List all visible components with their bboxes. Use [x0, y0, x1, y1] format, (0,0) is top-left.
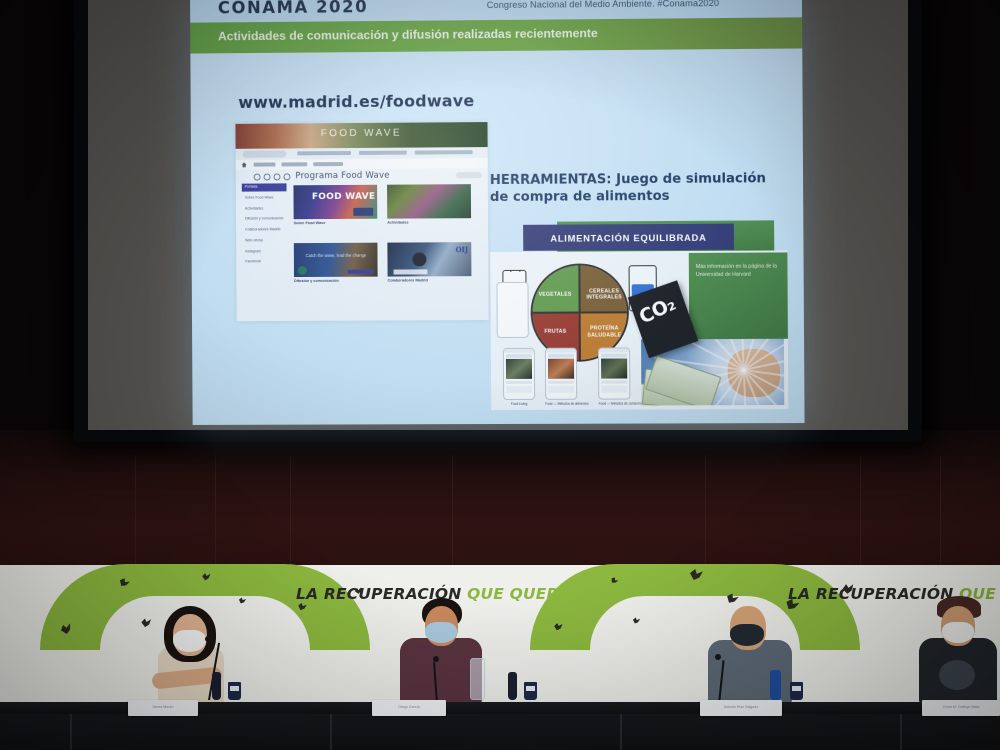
panel-table-front: [0, 714, 1000, 750]
balanced-diet-banner-wrap: ALIMENTACIÓN EQUILIBRADA: [523, 220, 774, 254]
website-content: Programa Food Wave PortadaSobre Food Wav…: [236, 168, 489, 321]
breadcrumb-2: [281, 162, 307, 166]
slide-section-title: Actividades de comunicación y difusión r…: [218, 26, 598, 43]
plate-divider-horizontal: [533, 311, 627, 314]
plate-label-fruits: FRUTAS: [535, 329, 576, 336]
panelist-1-face-mask: [173, 630, 206, 652]
table-seam: [330, 714, 332, 750]
table-seam: [900, 714, 902, 750]
card-cta-bar: [348, 270, 374, 274]
website-hero-title: FOOD WAVE: [321, 128, 402, 140]
phone-mockups-row: Food LivingFood — Métodos de alimentosFo…: [503, 347, 684, 406]
eu-badge: [353, 208, 373, 216]
table-seam: [70, 714, 72, 750]
website-sidebar-item[interactable]: Sobre Food Wave: [242, 194, 287, 202]
website-sidebar-item[interactable]: Portada: [242, 183, 287, 191]
phone-mockup: Food Living: [503, 348, 535, 406]
bottle-seat-1: [212, 672, 221, 700]
slide-section-band: Actividades de comunicación y difusión r…: [190, 17, 802, 53]
panelist-4-face-mask: [942, 622, 974, 643]
card-caption-3: Difusión y comunicación: [294, 279, 378, 283]
card-sobre-food-wave[interactable]: FOOD WAVE Sobre Food Wave: [293, 185, 377, 225]
cup-seat-3: [790, 682, 803, 700]
share-button[interactable]: [456, 172, 482, 178]
tools-heading: HERRAMIENTAS: Juego de simulación de com…: [490, 170, 787, 206]
oij-logo: OIJ: [456, 245, 469, 254]
home-icon: [242, 162, 247, 167]
wall-seam: [860, 455, 861, 570]
card-colaboradores[interactable]: OIJ Colaboradores Madrid: [387, 242, 471, 282]
card-thumb-4: OIJ: [387, 242, 471, 276]
breadcrumb-3: [313, 162, 343, 166]
conference-scene: CONAMA 2020 Congreso Nacional del Medio …: [0, 0, 1000, 750]
website-sidebar-item[interactable]: Web oficial: [242, 237, 287, 245]
card-difusion[interactable]: Catch the wave, lead the change Difusión…: [294, 243, 378, 283]
website-sidebar-menu: PortadaSobre Food WaveActividadesDifusió…: [242, 183, 287, 269]
panelist-3-face-mask: [730, 624, 764, 646]
website-sidebar-item[interactable]: Actividades: [242, 205, 287, 213]
bottle-seat-3: [770, 670, 781, 700]
panelist-2-face-mask: [425, 622, 457, 643]
conama-subtitle: Congreso Nacional del Medio Ambiente. #C…: [487, 0, 719, 10]
name-placard-1: Nerea Morán: [128, 700, 198, 716]
card-thumb-3: Catch the wave, lead the change: [294, 243, 378, 277]
projected-slide: CONAMA 2020 Congreso Nacional del Medio …: [190, 0, 805, 425]
food-wave-avatar: [298, 266, 307, 275]
panelist-1-mic-head: [205, 636, 211, 642]
contrast-icon: [264, 173, 271, 180]
cup-seat-1: [228, 682, 241, 700]
name-placard-1-text: Nerea Morán: [128, 705, 198, 709]
cup-logo: [526, 686, 535, 691]
accessibility-icon: [254, 174, 261, 181]
phone-mockup: Food — Métodos de alimentos: [545, 348, 589, 406]
nav-item-2: [359, 151, 407, 155]
card-thumb-3-text: Catch the wave, lead the change: [306, 253, 367, 258]
partner-logos-strip: [394, 269, 428, 274]
name-placard-3: Antonio Ruiz Salgado: [700, 700, 782, 716]
website-sidebar-item[interactable]: Difusión y comunicación: [242, 216, 287, 224]
card-thumb-4-circle: [413, 252, 427, 266]
water-bottle-seat-2: [470, 658, 485, 700]
plate-label-vegetables: VEGETALES: [534, 292, 575, 299]
wall-seam: [290, 455, 291, 570]
conama-logo: CONAMA 2020: [218, 0, 368, 17]
wall-seam: [452, 455, 453, 570]
plate-label-protein: PROTEÍNA SALUDABLE: [584, 326, 626, 339]
card-actividades[interactable]: Actividades: [387, 184, 471, 224]
tools-illustration-panel: Más información en la página de la Unive…: [490, 250, 788, 410]
name-placard-4: Víctor M. Gallego Mata: [922, 700, 1000, 716]
plate-quadrant-vegetables: [532, 266, 579, 313]
food-wave-logo: FOOD WAVE: [312, 194, 376, 201]
cup-logo: [792, 686, 801, 691]
font-size-icon: [274, 173, 281, 180]
wall-panel-seams: [0, 455, 1000, 570]
name-placard-3-text: Antonio Ruiz Salgado: [700, 705, 782, 709]
panelist-4: [915, 598, 1000, 702]
website-sidebar-item[interactable]: Facebook: [242, 259, 287, 267]
name-placard-2: Diego García: [372, 700, 446, 716]
name-placard-4-text: Víctor M. Gallego Mata: [922, 705, 1000, 709]
bottle-seat-2: [508, 672, 517, 700]
website-screenshot: FOOD WAVE Progra: [235, 122, 488, 321]
mini-phone-mockup: [496, 282, 528, 338]
phone-mockup: Food — Métodos de consumo: [598, 347, 641, 405]
accessibility-icons: [254, 173, 291, 180]
card-caption-4: Colaboradores Madrid: [388, 278, 472, 282]
card-thumb-1: FOOD WAVE: [293, 185, 377, 219]
nav-item-3: [415, 150, 473, 154]
website-sidebar-item[interactable]: Instagram: [242, 248, 287, 256]
bottle-neck: [510, 270, 520, 272]
website-page-title: Programa Food Wave: [295, 171, 389, 182]
cup-seat-2: [524, 682, 537, 700]
nav-most-viewed-pill: [243, 151, 287, 158]
name-placard-2-text: Diego García: [372, 705, 446, 709]
wall-seam: [215, 455, 216, 570]
panelist-2-mic-head: [433, 656, 439, 662]
wall-seam: [940, 455, 941, 570]
harvard-note-text: Más información en la página de la Unive…: [696, 262, 781, 279]
harvard-note-box: Más información en la página de la Unive…: [689, 252, 788, 339]
panelist-4-shirt-graphic: [939, 660, 975, 690]
plate-label-grains: CEREALES INTEGRALES: [583, 288, 625, 301]
card-caption-1: Sobre Food Wave: [294, 221, 378, 225]
website-sidebar-item[interactable]: Colaboradores Madrid: [242, 226, 287, 234]
website-hero-image: FOOD WAVE: [235, 122, 487, 149]
slide-url-text: www.madrid.es/foodwave: [238, 91, 474, 112]
co2-label: CO₂: [636, 293, 679, 329]
breadcrumb-1: [254, 163, 276, 167]
balanced-diet-banner: ALIMENTACIÓN EQUILIBRADA: [523, 224, 734, 251]
wall-seam: [705, 455, 706, 570]
balanced-diet-label: ALIMENTACIÓN EQUILIBRADA: [550, 231, 706, 243]
wall-seam: [135, 455, 136, 570]
nav-item-1: [297, 151, 351, 155]
print-icon: [283, 173, 290, 180]
table-seam: [620, 714, 622, 750]
card-thumb-2: [387, 184, 471, 218]
card-caption-2: Actividades: [387, 220, 471, 224]
panelist-3-mic-head: [715, 654, 721, 660]
cup-logo: [230, 686, 239, 691]
